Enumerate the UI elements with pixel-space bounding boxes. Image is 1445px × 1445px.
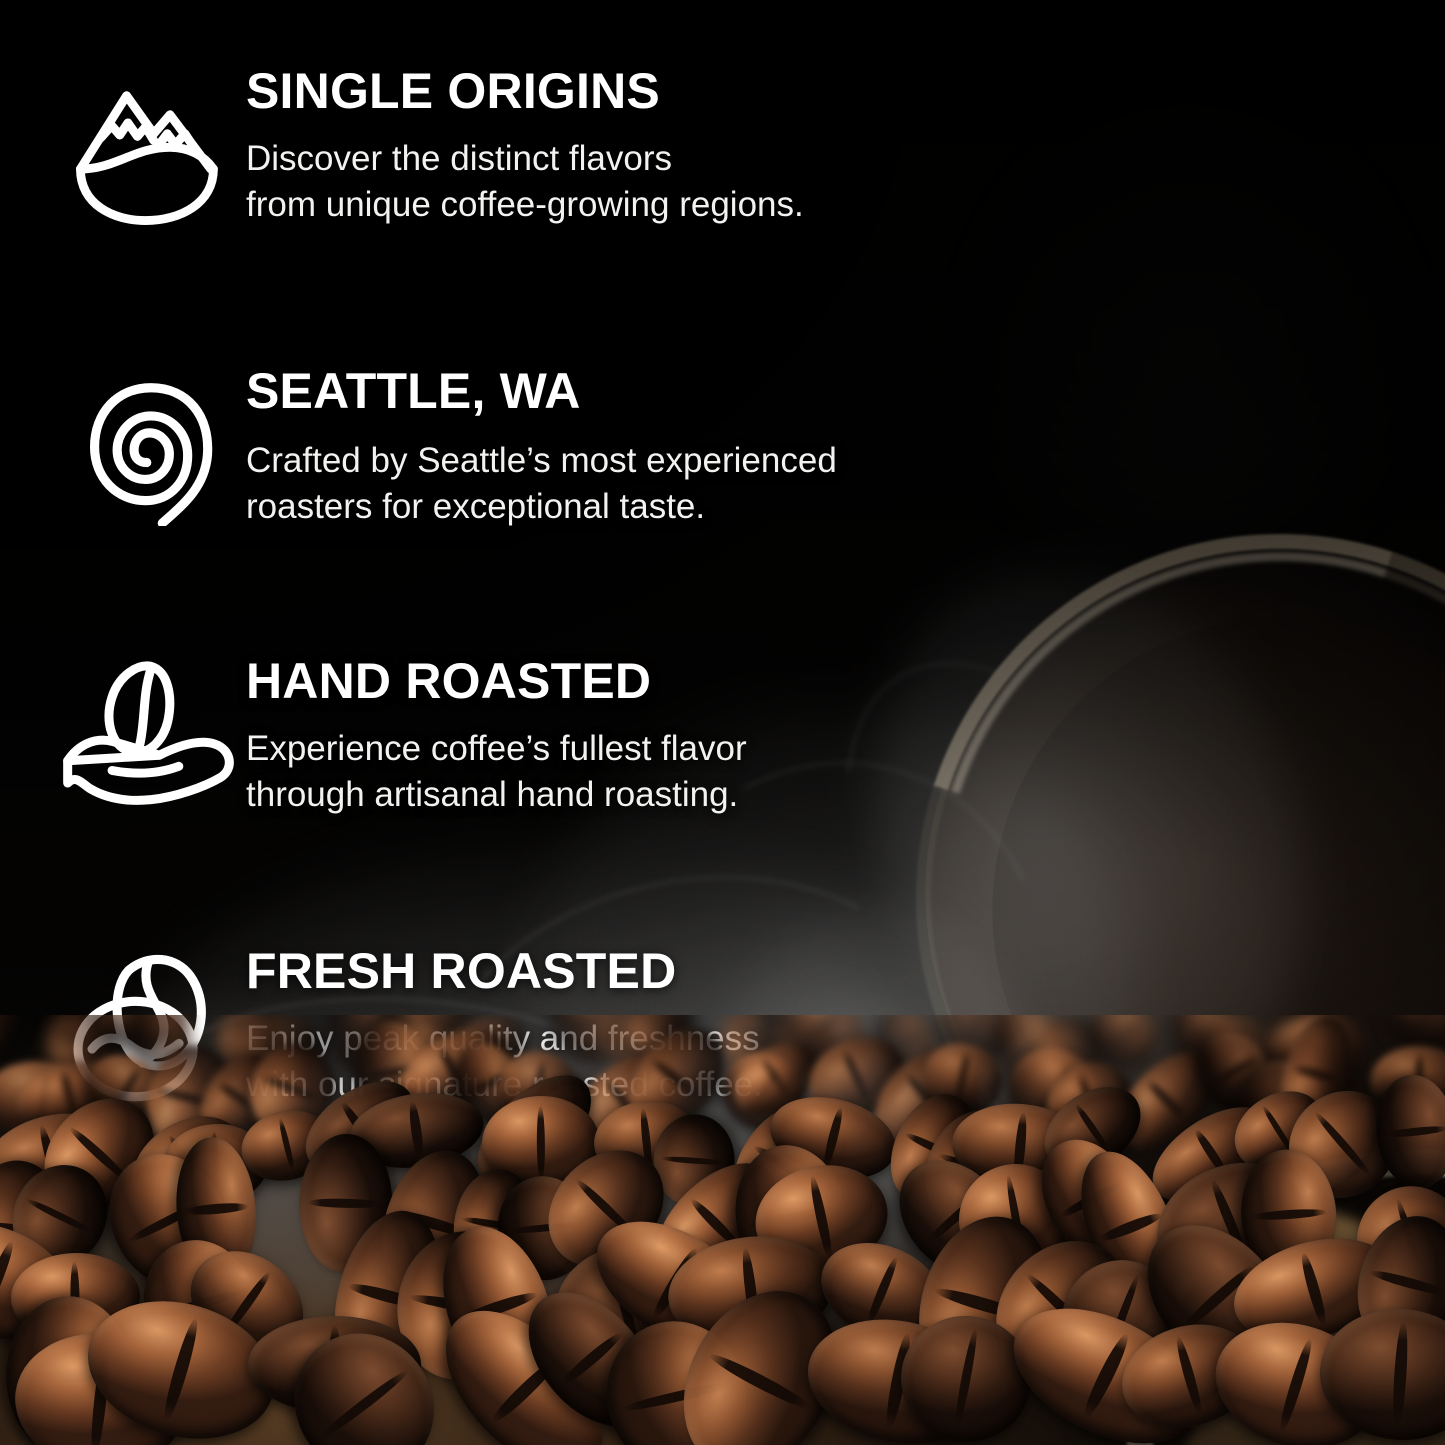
feature-description-line: from unique coffee-growing regions. [246,182,804,228]
feature-description: Crafted by Seattle’s most experienced ro… [246,438,837,529]
feature-description-line: through artisanal hand roasting. [246,772,747,818]
fingerprint-spiral-icon [56,362,246,526]
feature-text-block: HAND ROASTED Experience coffee’s fullest… [246,652,747,817]
feature-description: Discover the distinct flavors from uniqu… [246,136,804,227]
feature-description: Experience coffee’s fullest flavor throu… [246,726,747,817]
feature-description-line: roasters for exceptional taste. [246,484,837,530]
feature-item-hand-roasted: HAND ROASTED Experience coffee’s fullest… [0,652,1445,942]
feature-text-block: SINGLE ORIGINS Discover the distinct fla… [246,62,804,227]
feature-description-line: Experience coffee’s fullest flavor [246,726,747,772]
hand-holding-bean-icon [56,652,246,808]
feature-description-line: Discover the distinct flavors [246,136,804,182]
feature-item-single-origins: SINGLE ORIGINS Discover the distinct fla… [0,62,1445,362]
feature-text-block: SEATTLE, WA Crafted by Seattle’s most ex… [246,362,837,529]
feature-description-line: Crafted by Seattle’s most experienced [246,438,837,484]
feature-title: FRESH ROASTED [246,946,763,996]
feature-title: SEATTLE, WA [246,366,837,416]
feature-title: HAND ROASTED [246,656,747,706]
mountain-coffee-bean-icon [56,62,246,226]
coffee-feature-poster: SINGLE ORIGINS Discover the distinct fla… [0,0,1445,1445]
feature-item-seattle-wa: SEATTLE, WA Crafted by Seattle’s most ex… [0,362,1445,652]
feature-title: SINGLE ORIGINS [246,66,804,116]
